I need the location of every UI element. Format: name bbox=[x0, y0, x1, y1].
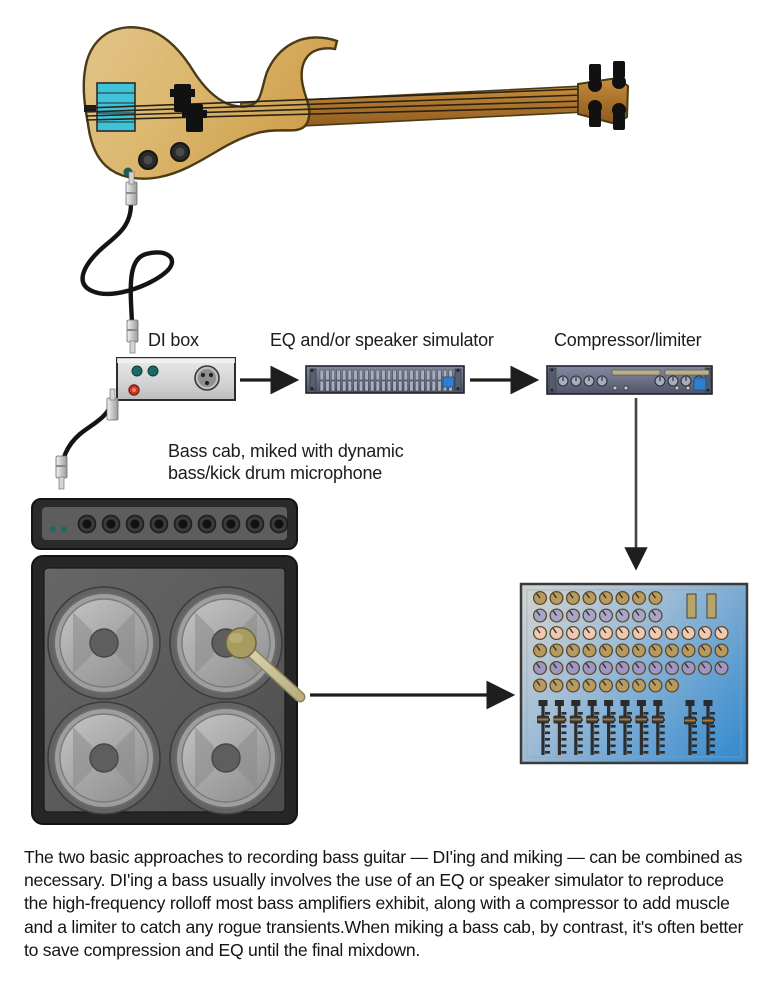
fader-track bbox=[574, 705, 577, 755]
amp-jack-hole bbox=[83, 520, 92, 529]
fader-tick bbox=[627, 745, 632, 748]
fader-tick bbox=[545, 725, 550, 728]
fader-top-block bbox=[686, 700, 695, 706]
eq-slider bbox=[342, 381, 346, 391]
fader-tick bbox=[643, 738, 648, 741]
fader-cap-line bbox=[570, 719, 581, 721]
fader-tick bbox=[561, 732, 566, 735]
eq-slider bbox=[348, 381, 352, 391]
eq-slider bbox=[370, 370, 374, 380]
eq-slider bbox=[387, 370, 391, 380]
eq-slider bbox=[426, 370, 430, 380]
fader-tick bbox=[692, 712, 697, 715]
fader-top-block bbox=[653, 700, 662, 706]
fader-top-block bbox=[637, 700, 646, 706]
fader-tick bbox=[545, 712, 550, 715]
eq-slider bbox=[404, 370, 408, 380]
label-eq-speaker-simulator: EQ and/or speaker simulator bbox=[270, 330, 494, 351]
fader-tick bbox=[545, 732, 550, 735]
diagram-caption: The two basic approaches to recording ba… bbox=[24, 846, 746, 962]
fader-tick bbox=[545, 745, 550, 748]
fader-tick bbox=[611, 745, 616, 748]
fader-tick bbox=[627, 725, 632, 728]
bass-guitar bbox=[84, 27, 628, 178]
amp-jack-hole bbox=[275, 520, 284, 529]
diagram-canvas: DI box EQ and/or speaker simulator Compr… bbox=[0, 0, 768, 990]
cable-di-to-cab bbox=[56, 389, 118, 489]
eq-slider bbox=[365, 370, 369, 380]
fader-tick bbox=[643, 751, 648, 754]
fader-tick bbox=[710, 751, 715, 754]
fader-track bbox=[607, 705, 610, 755]
fader-tick bbox=[594, 751, 599, 754]
fader-top-block bbox=[539, 700, 548, 706]
fader-tick bbox=[611, 732, 616, 735]
fader-tick bbox=[578, 738, 583, 741]
fader-cap-line bbox=[554, 719, 565, 721]
eq-slider bbox=[326, 370, 330, 380]
fader-top-block bbox=[704, 700, 713, 706]
eq-slider bbox=[415, 370, 419, 380]
cable-guitar-to-di bbox=[83, 172, 172, 353]
eq-slider bbox=[410, 381, 414, 391]
fader-tick bbox=[692, 732, 697, 735]
fader-top-block bbox=[621, 700, 630, 706]
eq-slider bbox=[393, 370, 397, 380]
fader-cap-line bbox=[652, 719, 663, 721]
eq-slider bbox=[342, 370, 346, 380]
fader-tick bbox=[561, 712, 566, 715]
eq-slider bbox=[320, 381, 324, 391]
eq-slider bbox=[398, 381, 402, 391]
fader-tick bbox=[710, 725, 715, 728]
compressor-display bbox=[694, 378, 706, 390]
eq-slider bbox=[398, 370, 402, 380]
fader-cap-line bbox=[603, 719, 614, 721]
label-bass-cab: Bass cab, miked with dynamic bass/kick d… bbox=[168, 440, 478, 484]
fader-tick bbox=[643, 725, 648, 728]
eq-slider bbox=[438, 381, 442, 391]
amp-led-2 bbox=[61, 526, 67, 532]
fader-top-block bbox=[588, 700, 597, 706]
eq-slider bbox=[382, 370, 386, 380]
amp-jack-hole bbox=[155, 520, 164, 529]
compressor-limiter bbox=[547, 366, 712, 394]
eq-slider bbox=[376, 370, 380, 380]
eq-slider bbox=[415, 381, 419, 391]
compressor-meter-left bbox=[612, 370, 660, 375]
eq-slider bbox=[365, 381, 369, 391]
fader-tick bbox=[692, 745, 697, 748]
vu-meter-right bbox=[707, 594, 716, 618]
fader-tick bbox=[692, 725, 697, 728]
eq-display bbox=[443, 377, 454, 387]
diagram-graphics bbox=[0, 0, 768, 990]
eq-slider bbox=[354, 370, 358, 380]
fader-tick bbox=[660, 712, 665, 715]
speaker-dustcap bbox=[90, 744, 118, 772]
eq-slider bbox=[331, 381, 335, 391]
label-di-box: DI box bbox=[148, 330, 199, 351]
fader-tick bbox=[643, 732, 648, 735]
eq-slider bbox=[438, 370, 442, 380]
fader-cap-line bbox=[538, 719, 549, 721]
fader-tick bbox=[710, 712, 715, 715]
fader-track bbox=[558, 705, 561, 755]
eq-slider bbox=[337, 381, 341, 391]
eq-slider bbox=[382, 381, 386, 391]
amp-head bbox=[32, 499, 297, 549]
microphone-capsule bbox=[226, 628, 256, 658]
fader-tick bbox=[660, 732, 665, 735]
eq-slider bbox=[348, 370, 352, 380]
eq-slider bbox=[393, 381, 397, 391]
amp-led-1 bbox=[50, 526, 56, 532]
fader-cap-line bbox=[685, 720, 696, 722]
amp-jack-hole bbox=[131, 520, 140, 529]
eq-slider bbox=[326, 381, 330, 391]
eq-slider bbox=[337, 370, 341, 380]
fader-tick bbox=[710, 732, 715, 735]
fader-track bbox=[623, 705, 626, 755]
fader-tick bbox=[611, 751, 616, 754]
fader-tick bbox=[710, 745, 715, 748]
fader-track bbox=[656, 705, 659, 755]
eq-speaker-simulator bbox=[306, 366, 464, 393]
fader-track bbox=[640, 705, 643, 755]
fader-top-block bbox=[555, 700, 564, 706]
fader-tick bbox=[627, 738, 632, 741]
eq-slider bbox=[421, 370, 425, 380]
fader-tick bbox=[611, 738, 616, 741]
di-box bbox=[117, 358, 235, 400]
fader-tick bbox=[611, 712, 616, 715]
amp-jack-hole bbox=[179, 520, 188, 529]
eq-slider bbox=[421, 381, 425, 391]
fader-tick bbox=[710, 738, 715, 741]
jack-plug-cab-end bbox=[56, 456, 67, 489]
fader-tick bbox=[660, 738, 665, 741]
amp-jack-hole bbox=[107, 520, 116, 529]
amp-jack-hole bbox=[203, 520, 212, 529]
di-xlr-output bbox=[195, 366, 219, 390]
eq-slider bbox=[376, 381, 380, 391]
fader-tick bbox=[627, 732, 632, 735]
eq-slider bbox=[354, 381, 358, 391]
fader-tick bbox=[594, 732, 599, 735]
fader-tick bbox=[643, 745, 648, 748]
fader-tick bbox=[561, 725, 566, 728]
fader-top-block bbox=[604, 700, 613, 706]
fader-tick bbox=[545, 738, 550, 741]
fader-tick bbox=[561, 751, 566, 754]
fader-tick bbox=[643, 712, 648, 715]
eq-slider bbox=[387, 381, 391, 391]
fader-cap-line bbox=[620, 719, 631, 721]
fader-track bbox=[688, 705, 691, 755]
fader-tick bbox=[594, 745, 599, 748]
fader-tick bbox=[611, 725, 616, 728]
fader-tick bbox=[578, 732, 583, 735]
eq-slider bbox=[426, 381, 430, 391]
fader-tick bbox=[561, 745, 566, 748]
eq-slider bbox=[359, 381, 363, 391]
fader-tick bbox=[594, 712, 599, 715]
fader-tick bbox=[594, 738, 599, 741]
fader-tick bbox=[692, 751, 697, 754]
fader-tick bbox=[660, 725, 665, 728]
vu-meter-left bbox=[687, 594, 696, 618]
fader-tick bbox=[660, 745, 665, 748]
eq-slider bbox=[432, 370, 436, 380]
amp-jack-hole bbox=[227, 520, 236, 529]
compressor-meter-right bbox=[665, 370, 709, 375]
speaker-dustcap bbox=[90, 629, 118, 657]
di-button-2 bbox=[148, 366, 158, 376]
label-compressor-limiter: Compressor/limiter bbox=[554, 330, 701, 351]
guitar-headstock bbox=[578, 61, 628, 130]
eq-slider bbox=[370, 381, 374, 391]
fader-tick bbox=[578, 712, 583, 715]
fader-tick bbox=[578, 751, 583, 754]
fader-cap-line bbox=[636, 719, 647, 721]
eq-slider bbox=[410, 370, 414, 380]
fader-track bbox=[591, 705, 594, 755]
fader-top-block bbox=[571, 700, 580, 706]
eq-slider bbox=[359, 370, 363, 380]
fader-cap-line bbox=[703, 720, 714, 722]
fader-tick bbox=[545, 751, 550, 754]
speaker-dustcap bbox=[212, 744, 240, 772]
fader-track bbox=[541, 705, 544, 755]
amp-jack-hole bbox=[251, 520, 260, 529]
mixing-console bbox=[521, 584, 747, 763]
fader-tick bbox=[578, 745, 583, 748]
jack-plug-di-end bbox=[127, 320, 138, 353]
fader-tick bbox=[692, 738, 697, 741]
fader-tick bbox=[660, 751, 665, 754]
fader-tick bbox=[578, 725, 583, 728]
fader-tick bbox=[594, 725, 599, 728]
fader-tick bbox=[627, 751, 632, 754]
fader-tick bbox=[627, 712, 632, 715]
eq-slider bbox=[331, 370, 335, 380]
fader-track bbox=[706, 705, 709, 755]
eq-slider bbox=[432, 381, 436, 391]
fader-tick bbox=[561, 738, 566, 741]
di-button-1 bbox=[132, 366, 142, 376]
eq-slider bbox=[320, 370, 324, 380]
fader-cap-line bbox=[587, 719, 598, 721]
eq-slider bbox=[404, 381, 408, 391]
